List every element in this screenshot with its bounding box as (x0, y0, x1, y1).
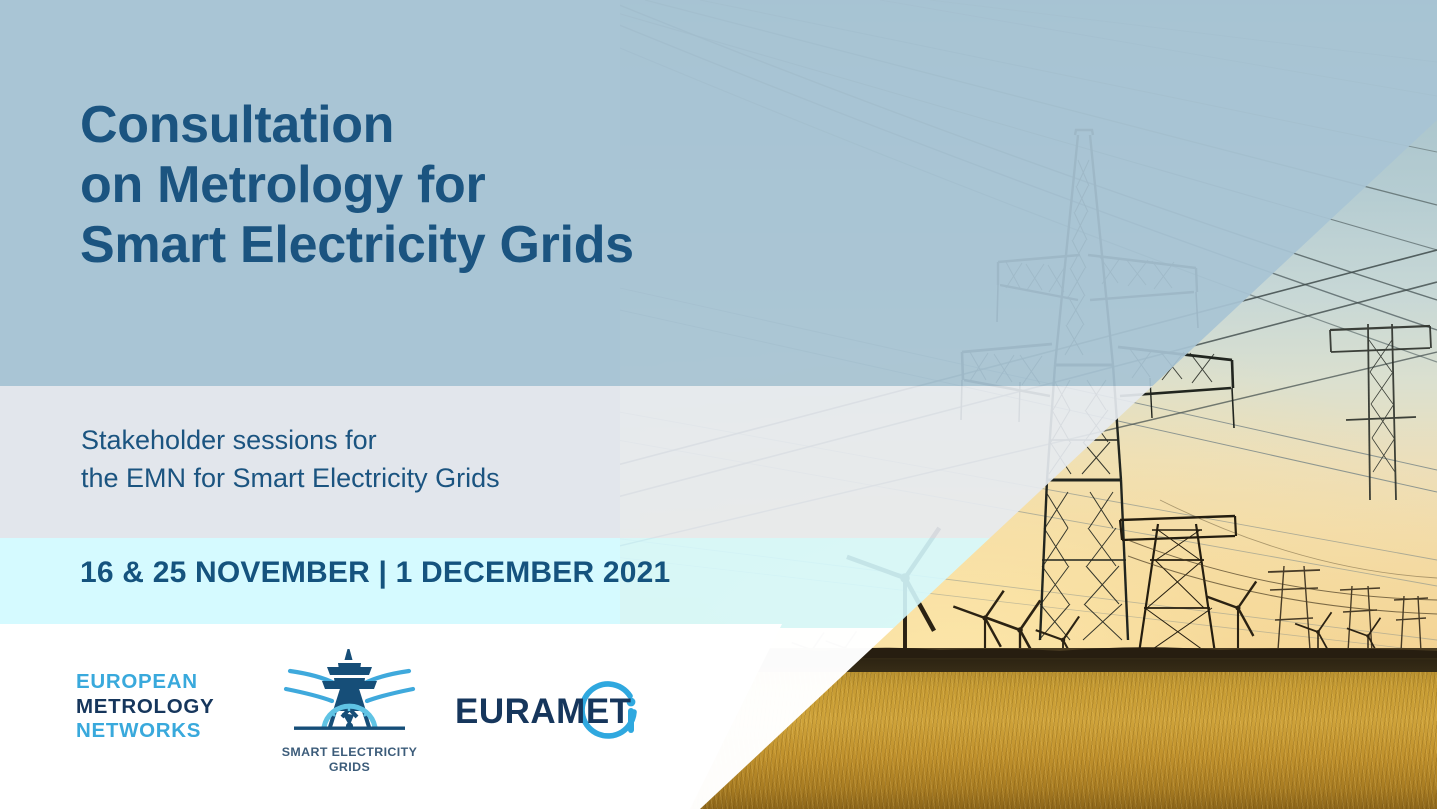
euramet-wordmark: EURAMET (455, 692, 632, 732)
emn-line-1: EUROPEAN (76, 670, 214, 695)
logo-euramet: EURAMET (455, 678, 645, 740)
pylon-gauge-icon (272, 645, 427, 745)
event-dates: 16 & 25 NOVEMBER | 1 DECEMBER 2021 (80, 556, 670, 590)
smart-electricity-grids-caption: SMART ELECTRICITY GRIDS (272, 745, 427, 775)
main-pylon (961, 130, 1234, 640)
banner-slide: Consultation on Metrology for Smart Elec… (0, 0, 1437, 809)
logo-smart-electricity-grids: SMART ELECTRICITY GRIDS (272, 645, 427, 790)
emn-line-3: NETWORKS (76, 719, 214, 744)
emn-line-2: METROLOGY (76, 695, 214, 720)
logo-european-metrology-networks: EUROPEAN METROLOGY NETWORKS (76, 670, 214, 744)
subtitle: Stakeholder sessions for the EMN for Sma… (81, 421, 781, 497)
page-title: Consultation on Metrology for Smart Elec… (80, 95, 780, 275)
